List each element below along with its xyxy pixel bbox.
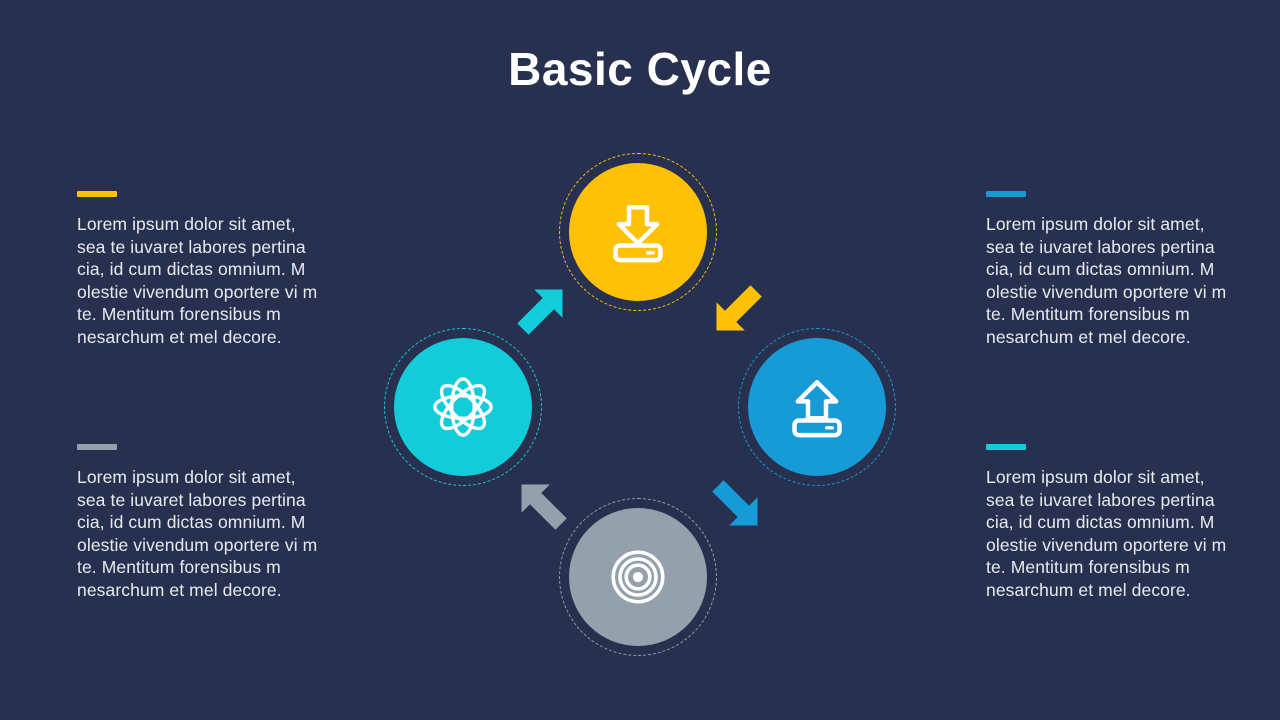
arrow-right-to-bottom (704, 472, 770, 538)
arrow-down-right-icon (704, 277, 770, 343)
slide-canvas: Basic Cycle Lorem ipsum dolor sit amet, … (0, 0, 1280, 720)
cycle-node-left[interactable] (384, 328, 542, 486)
arrow-top-to-right (704, 277, 770, 343)
page-title: Basic Cycle (0, 44, 1280, 95)
atom-icon (427, 371, 499, 443)
cycle-diagram (376, 145, 896, 665)
node-circle-atom[interactable] (394, 338, 532, 476)
node-circle-download[interactable] (569, 163, 707, 301)
text-block-body: Lorem ipsum dolor sit amet, sea te iuvar… (986, 466, 1231, 602)
arrow-up-right-icon (509, 277, 575, 343)
text-block-top-right: Lorem ipsum dolor sit amet, sea te iuvar… (986, 191, 1231, 349)
arrow-left-to-top (509, 277, 575, 343)
download-icon (602, 196, 674, 268)
node-circle-upload[interactable] (748, 338, 886, 476)
accent-bar-top-right (986, 191, 1026, 197)
accent-bar-bottom-right (986, 444, 1026, 450)
text-block-bottom-left: Lorem ipsum dolor sit amet, sea te iuvar… (77, 444, 322, 602)
text-block-body: Lorem ipsum dolor sit amet, sea te iuvar… (986, 213, 1231, 349)
arrow-down-left-icon (704, 472, 770, 538)
accent-bar-top-left (77, 191, 117, 197)
text-block-body: Lorem ipsum dolor sit amet, sea te iuvar… (77, 466, 322, 602)
text-block-top-left: Lorem ipsum dolor sit amet, sea te iuvar… (77, 191, 322, 349)
cycle-node-top[interactable] (559, 153, 717, 311)
target-icon (602, 541, 674, 613)
cycle-node-bottom[interactable] (559, 498, 717, 656)
accent-bar-bottom-left (77, 444, 117, 450)
node-circle-target[interactable] (569, 508, 707, 646)
arrow-bottom-to-left (509, 472, 575, 538)
text-block-body: Lorem ipsum dolor sit amet, sea te iuvar… (77, 213, 322, 349)
upload-icon (781, 371, 853, 443)
text-block-bottom-right: Lorem ipsum dolor sit amet, sea te iuvar… (986, 444, 1231, 602)
arrow-up-left-icon (509, 472, 575, 538)
cycle-node-right[interactable] (738, 328, 896, 486)
